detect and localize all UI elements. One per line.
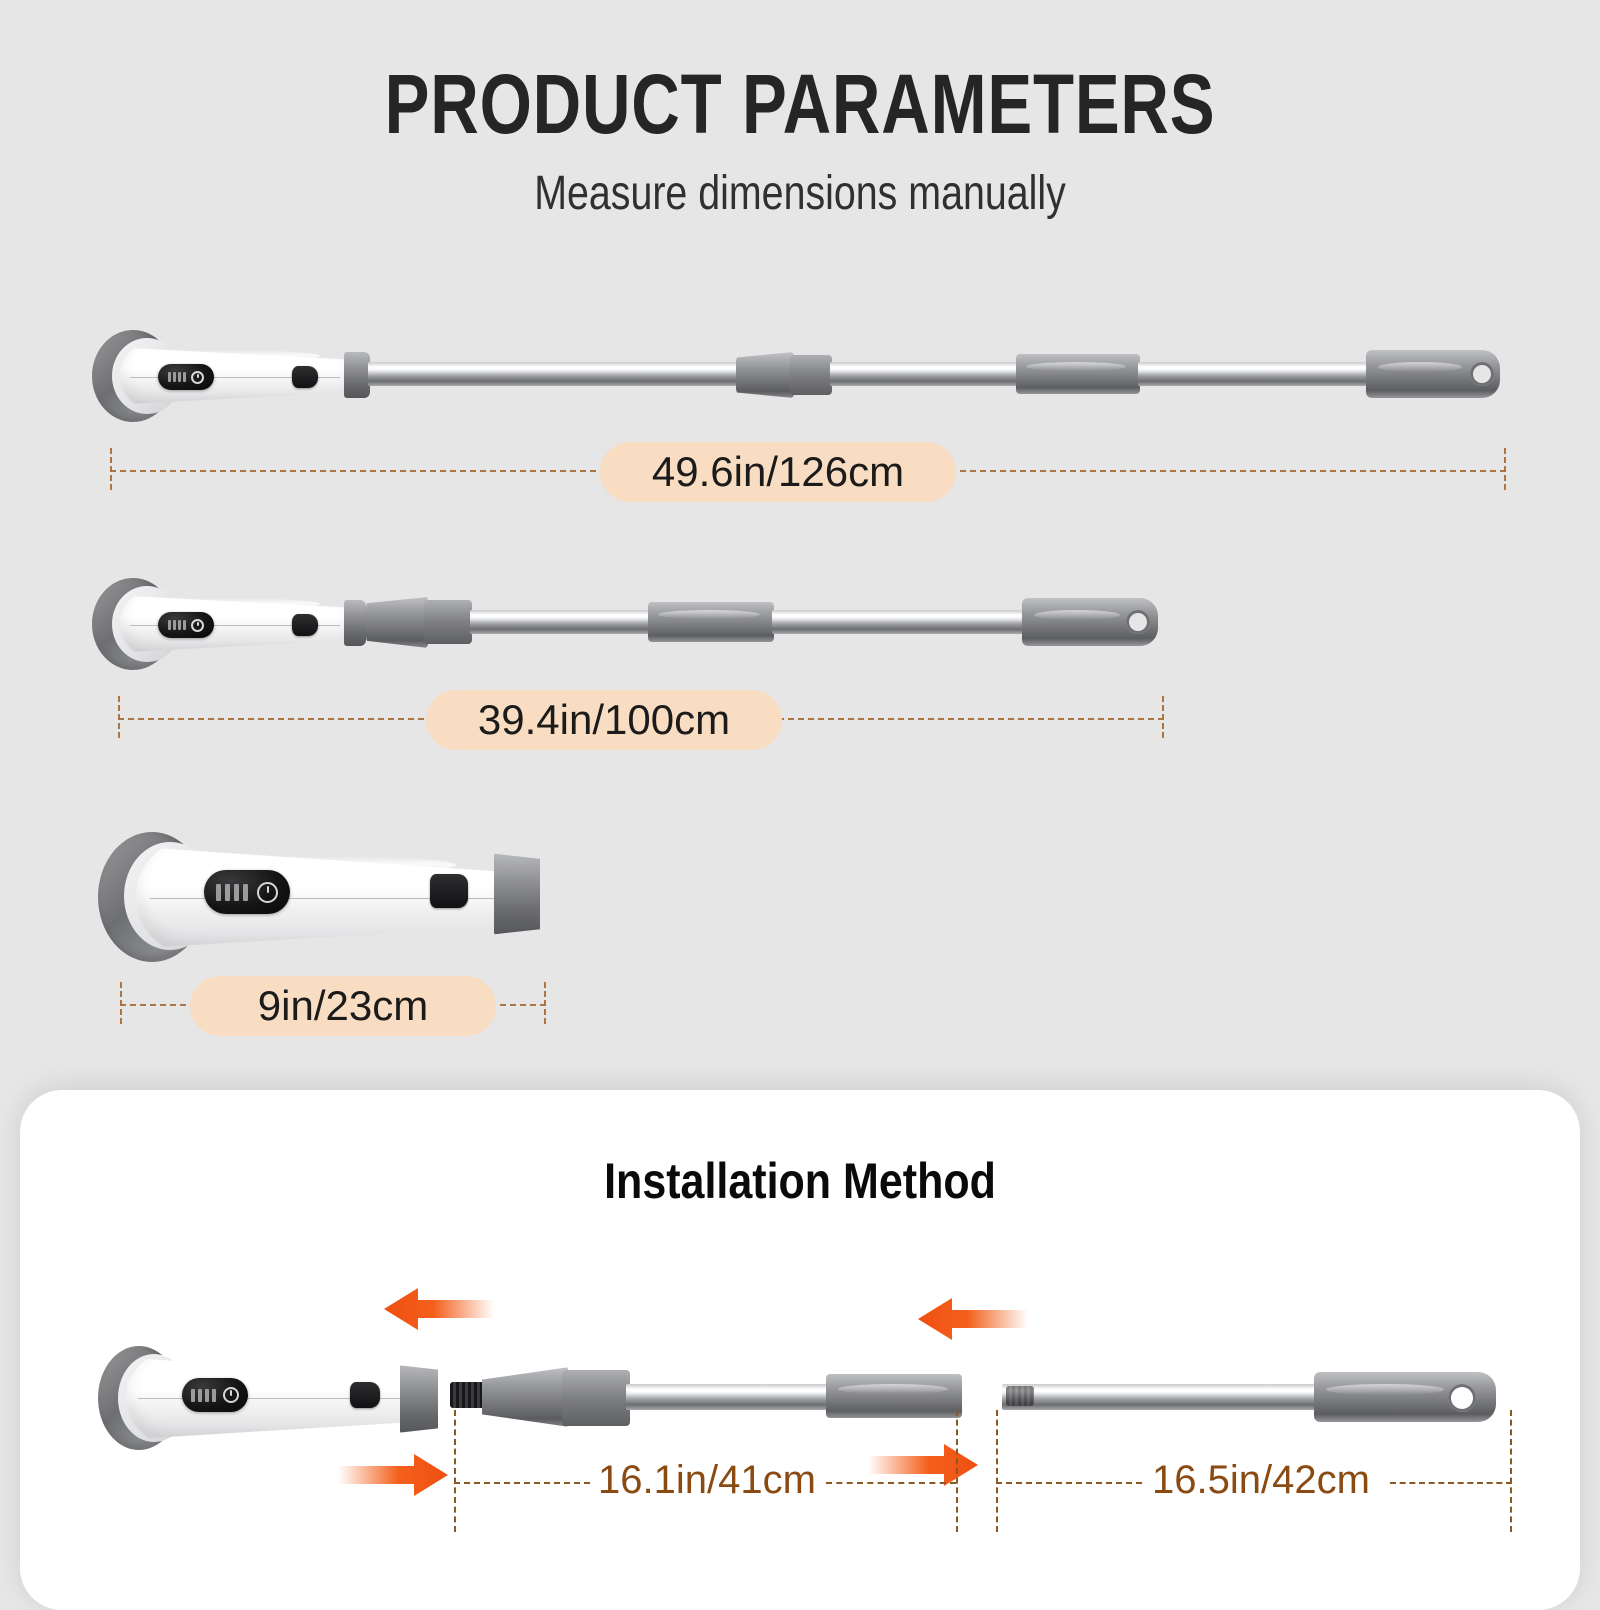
handle-end-collar — [494, 852, 540, 936]
battery-display — [182, 1378, 248, 1412]
dim-tick-right — [1510, 1410, 1512, 1532]
screw-thread — [450, 1382, 484, 1408]
battery-bar — [225, 884, 230, 901]
pole-section-2 — [830, 362, 1020, 386]
battery-bar — [212, 1389, 216, 1402]
dim-tick-left — [120, 982, 122, 1024]
dim-line-right — [826, 1482, 956, 1484]
dim-tick-right — [956, 1410, 958, 1532]
handle-collar — [344, 600, 366, 646]
grip-swoosh — [838, 1384, 948, 1394]
dim-tick-left — [996, 1410, 998, 1532]
pole-highlight — [372, 367, 734, 369]
dim-tick-right — [544, 982, 546, 1024]
pole-connector — [482, 1366, 568, 1428]
dimension-label-126cm: 49.6in/126cm — [600, 442, 956, 502]
end-grip-swoosh — [1326, 1384, 1444, 1395]
power-icon — [191, 371, 204, 384]
dim-line-left — [454, 1482, 590, 1484]
product-handle-only — [0, 0, 1600, 200]
dim-line-right — [1390, 1482, 1512, 1484]
screw-thread — [1006, 1386, 1034, 1406]
handle-end-collar — [400, 1364, 438, 1434]
install-label-41cm: 16.1in/41cm — [598, 1458, 816, 1503]
battery-display — [158, 612, 214, 638]
battery-bar — [178, 620, 181, 630]
pole-highlight — [1006, 1390, 1314, 1392]
installation-card: Installation Method — [20, 1090, 1580, 1610]
grip-sleeve — [1016, 354, 1140, 394]
pole-highlight — [1142, 367, 1366, 369]
dim-tick-left — [454, 1410, 456, 1532]
dim-tick-left — [110, 448, 112, 490]
battery-bars — [168, 620, 191, 630]
dim-tick-right — [1162, 696, 1164, 738]
battery-bar — [191, 1389, 195, 1402]
connector-ring — [790, 355, 832, 395]
pole-connector — [736, 352, 794, 398]
hang-hole — [1470, 362, 1494, 386]
battery-bar — [168, 620, 171, 630]
handle-gloss — [150, 1364, 378, 1378]
trigger-button[interactable] — [292, 614, 318, 636]
handle-gloss — [140, 598, 320, 610]
connector-ring — [562, 1370, 630, 1426]
hang-hole — [1126, 610, 1150, 634]
dim-tick-right — [1504, 448, 1506, 490]
dimension-label-23cm: 9in/23cm — [190, 976, 496, 1036]
battery-bar — [173, 372, 176, 382]
pole-section-2 — [772, 610, 1024, 634]
power-icon — [223, 1387, 239, 1403]
handle-collar — [344, 352, 370, 398]
dim-line-left — [996, 1482, 1142, 1484]
battery-bar — [173, 620, 176, 630]
battery-bar — [178, 372, 181, 382]
grip-swoosh — [1026, 362, 1126, 371]
arrow-right-bottom-icon — [338, 1452, 448, 1498]
grip-sleeve — [648, 602, 774, 642]
pole-section-1 — [368, 362, 738, 386]
grip-sleeve — [826, 1374, 962, 1418]
connector-ring — [424, 600, 472, 644]
handle-gloss — [166, 856, 456, 874]
power-icon — [191, 619, 204, 632]
end-grip-swoosh — [1034, 610, 1120, 620]
pole-connector — [366, 596, 428, 648]
install-label-42cm: 16.5in/42cm — [1152, 1458, 1370, 1503]
pole-section — [626, 1384, 830, 1410]
battery-bars — [168, 372, 191, 382]
grip-swoosh — [658, 610, 760, 619]
arrow-left-top-icon — [384, 1286, 494, 1332]
battery-bar — [198, 1389, 202, 1402]
pole-section — [1002, 1384, 1318, 1410]
battery-bar — [216, 884, 221, 901]
handle-gloss — [140, 350, 320, 362]
battery-bars — [191, 1389, 223, 1402]
battery-bar — [234, 884, 239, 901]
pole-section-3 — [1138, 362, 1370, 386]
trigger-button[interactable] — [350, 1382, 380, 1408]
battery-display — [204, 870, 290, 914]
trigger-button[interactable] — [430, 874, 468, 908]
battery-bar — [205, 1389, 209, 1402]
pole-section-1 — [470, 610, 652, 634]
battery-bar — [243, 884, 248, 901]
battery-bar — [183, 372, 186, 382]
power-icon — [257, 882, 278, 903]
hang-hole — [1448, 1384, 1476, 1412]
battery-bars — [216, 884, 257, 901]
pole-highlight — [474, 615, 648, 617]
installation-title: Installation Method — [129, 1152, 1471, 1210]
pole-highlight — [834, 367, 1016, 369]
battery-bar — [168, 372, 171, 382]
dim-tick-left — [118, 696, 120, 738]
end-grip-swoosh — [1378, 362, 1462, 372]
dimension-label-100cm: 39.4in/100cm — [426, 690, 782, 750]
trigger-button[interactable] — [292, 366, 318, 388]
battery-display — [158, 364, 214, 390]
pole-highlight — [776, 615, 1020, 617]
pole-highlight — [630, 1390, 826, 1392]
battery-bar — [183, 620, 186, 630]
arrow-left-mid-icon — [918, 1296, 1028, 1342]
